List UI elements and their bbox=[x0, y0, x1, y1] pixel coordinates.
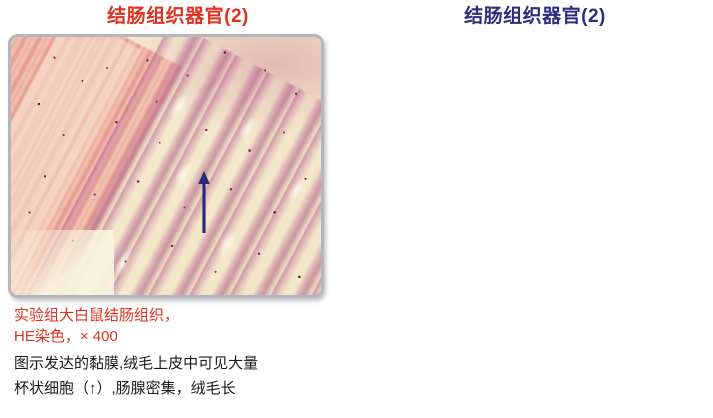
panel-right: 结肠组织器官(2) 实验组大白鼠结肠组织， HE染色，× 400 图示退化的肠壁… bbox=[357, 0, 713, 418]
goblet-cell-arrow-icon bbox=[197, 170, 211, 233]
page-title-left: 结肠组织器官(2) bbox=[0, 0, 356, 30]
caption-body-left: 图示发达的黏膜,绒毛上皮中可见大量 杯状细胞（↑）,肠腺密集，绒毛长 bbox=[14, 351, 350, 401]
histology-image-left bbox=[11, 37, 321, 295]
caption-heading-left: 实验组大白鼠结肠组织， HE染色，× 400 bbox=[14, 305, 350, 347]
panel-left: 结肠组织器官(2) 实验组大白鼠结肠组织， HE染色，× 400 图示发达的黏膜… bbox=[0, 0, 356, 418]
page-title-right: 结肠组织器官(2) bbox=[357, 0, 713, 30]
slide-background-corner bbox=[11, 230, 114, 295]
caption-left: 实验组大白鼠结肠组织， HE染色，× 400 图示发达的黏膜,绒毛上皮中可见大量… bbox=[14, 305, 350, 401]
figure-left bbox=[8, 34, 324, 298]
slide-page: 结肠组织器官(2) 实验组大白鼠结肠组织， HE染色，× 400 图示发达的黏膜… bbox=[0, 0, 713, 418]
